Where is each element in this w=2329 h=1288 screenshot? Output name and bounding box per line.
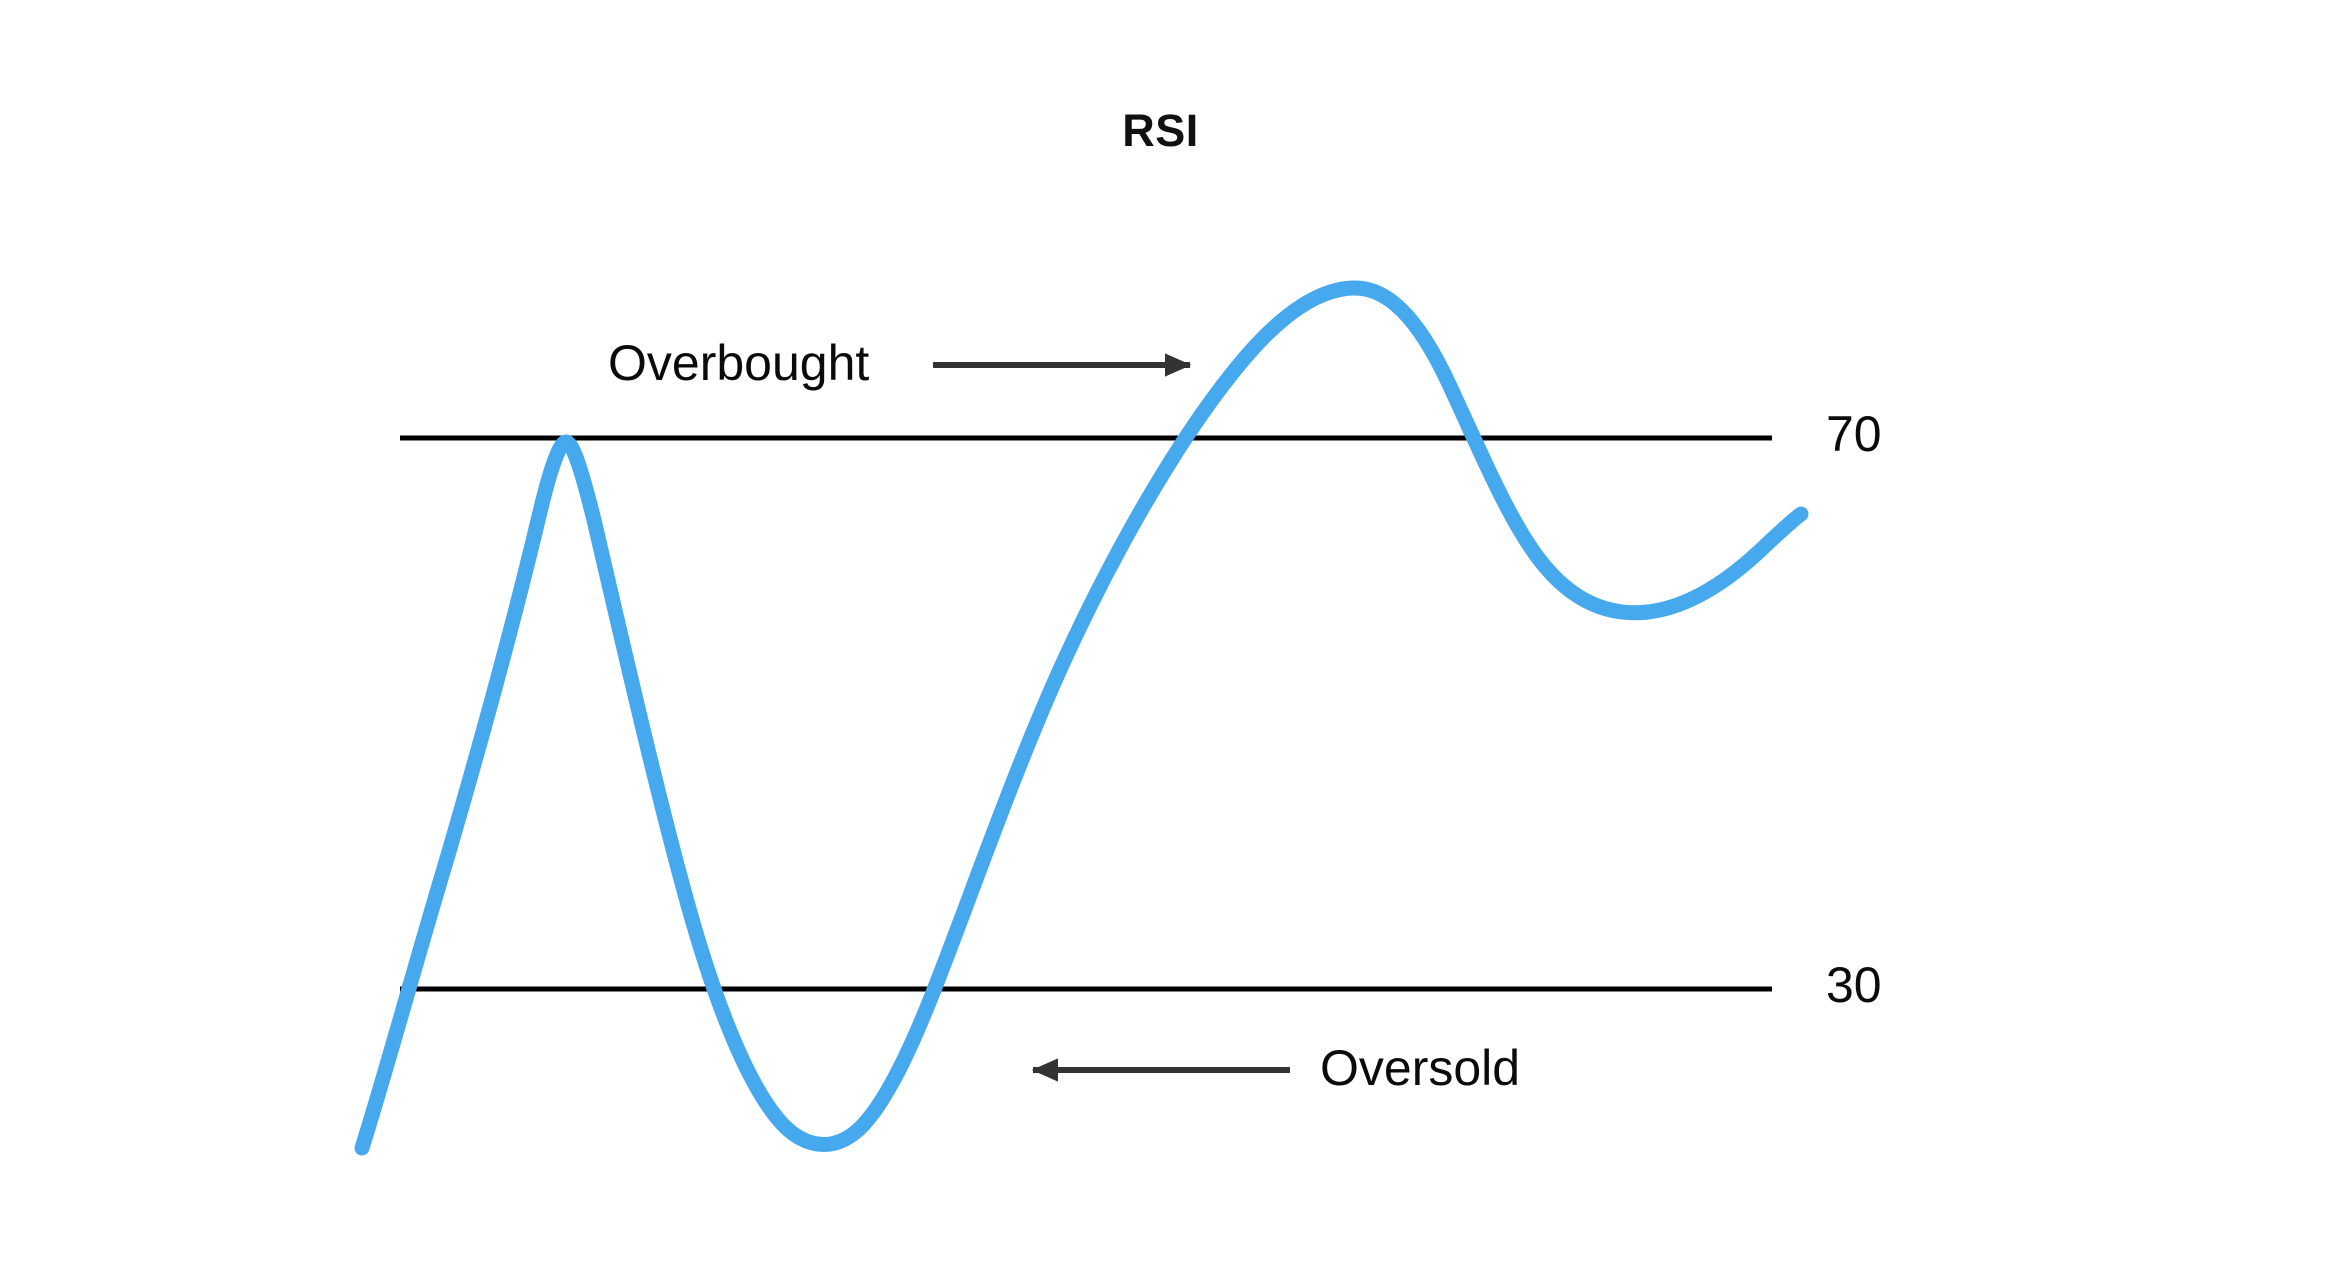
threshold-label-70: 70: [1826, 409, 1882, 459]
threshold-label-30: 30: [1826, 960, 1882, 1010]
rsi-plot: [0, 0, 2329, 1288]
rsi-line-series: [362, 288, 1801, 1148]
annotation-label-overbought: Overbought: [608, 338, 869, 388]
chart-canvas: RSI 70 30 Overbought Oversold: [0, 0, 2329, 1288]
annotation-label-oversold: Oversold: [1320, 1043, 1520, 1093]
